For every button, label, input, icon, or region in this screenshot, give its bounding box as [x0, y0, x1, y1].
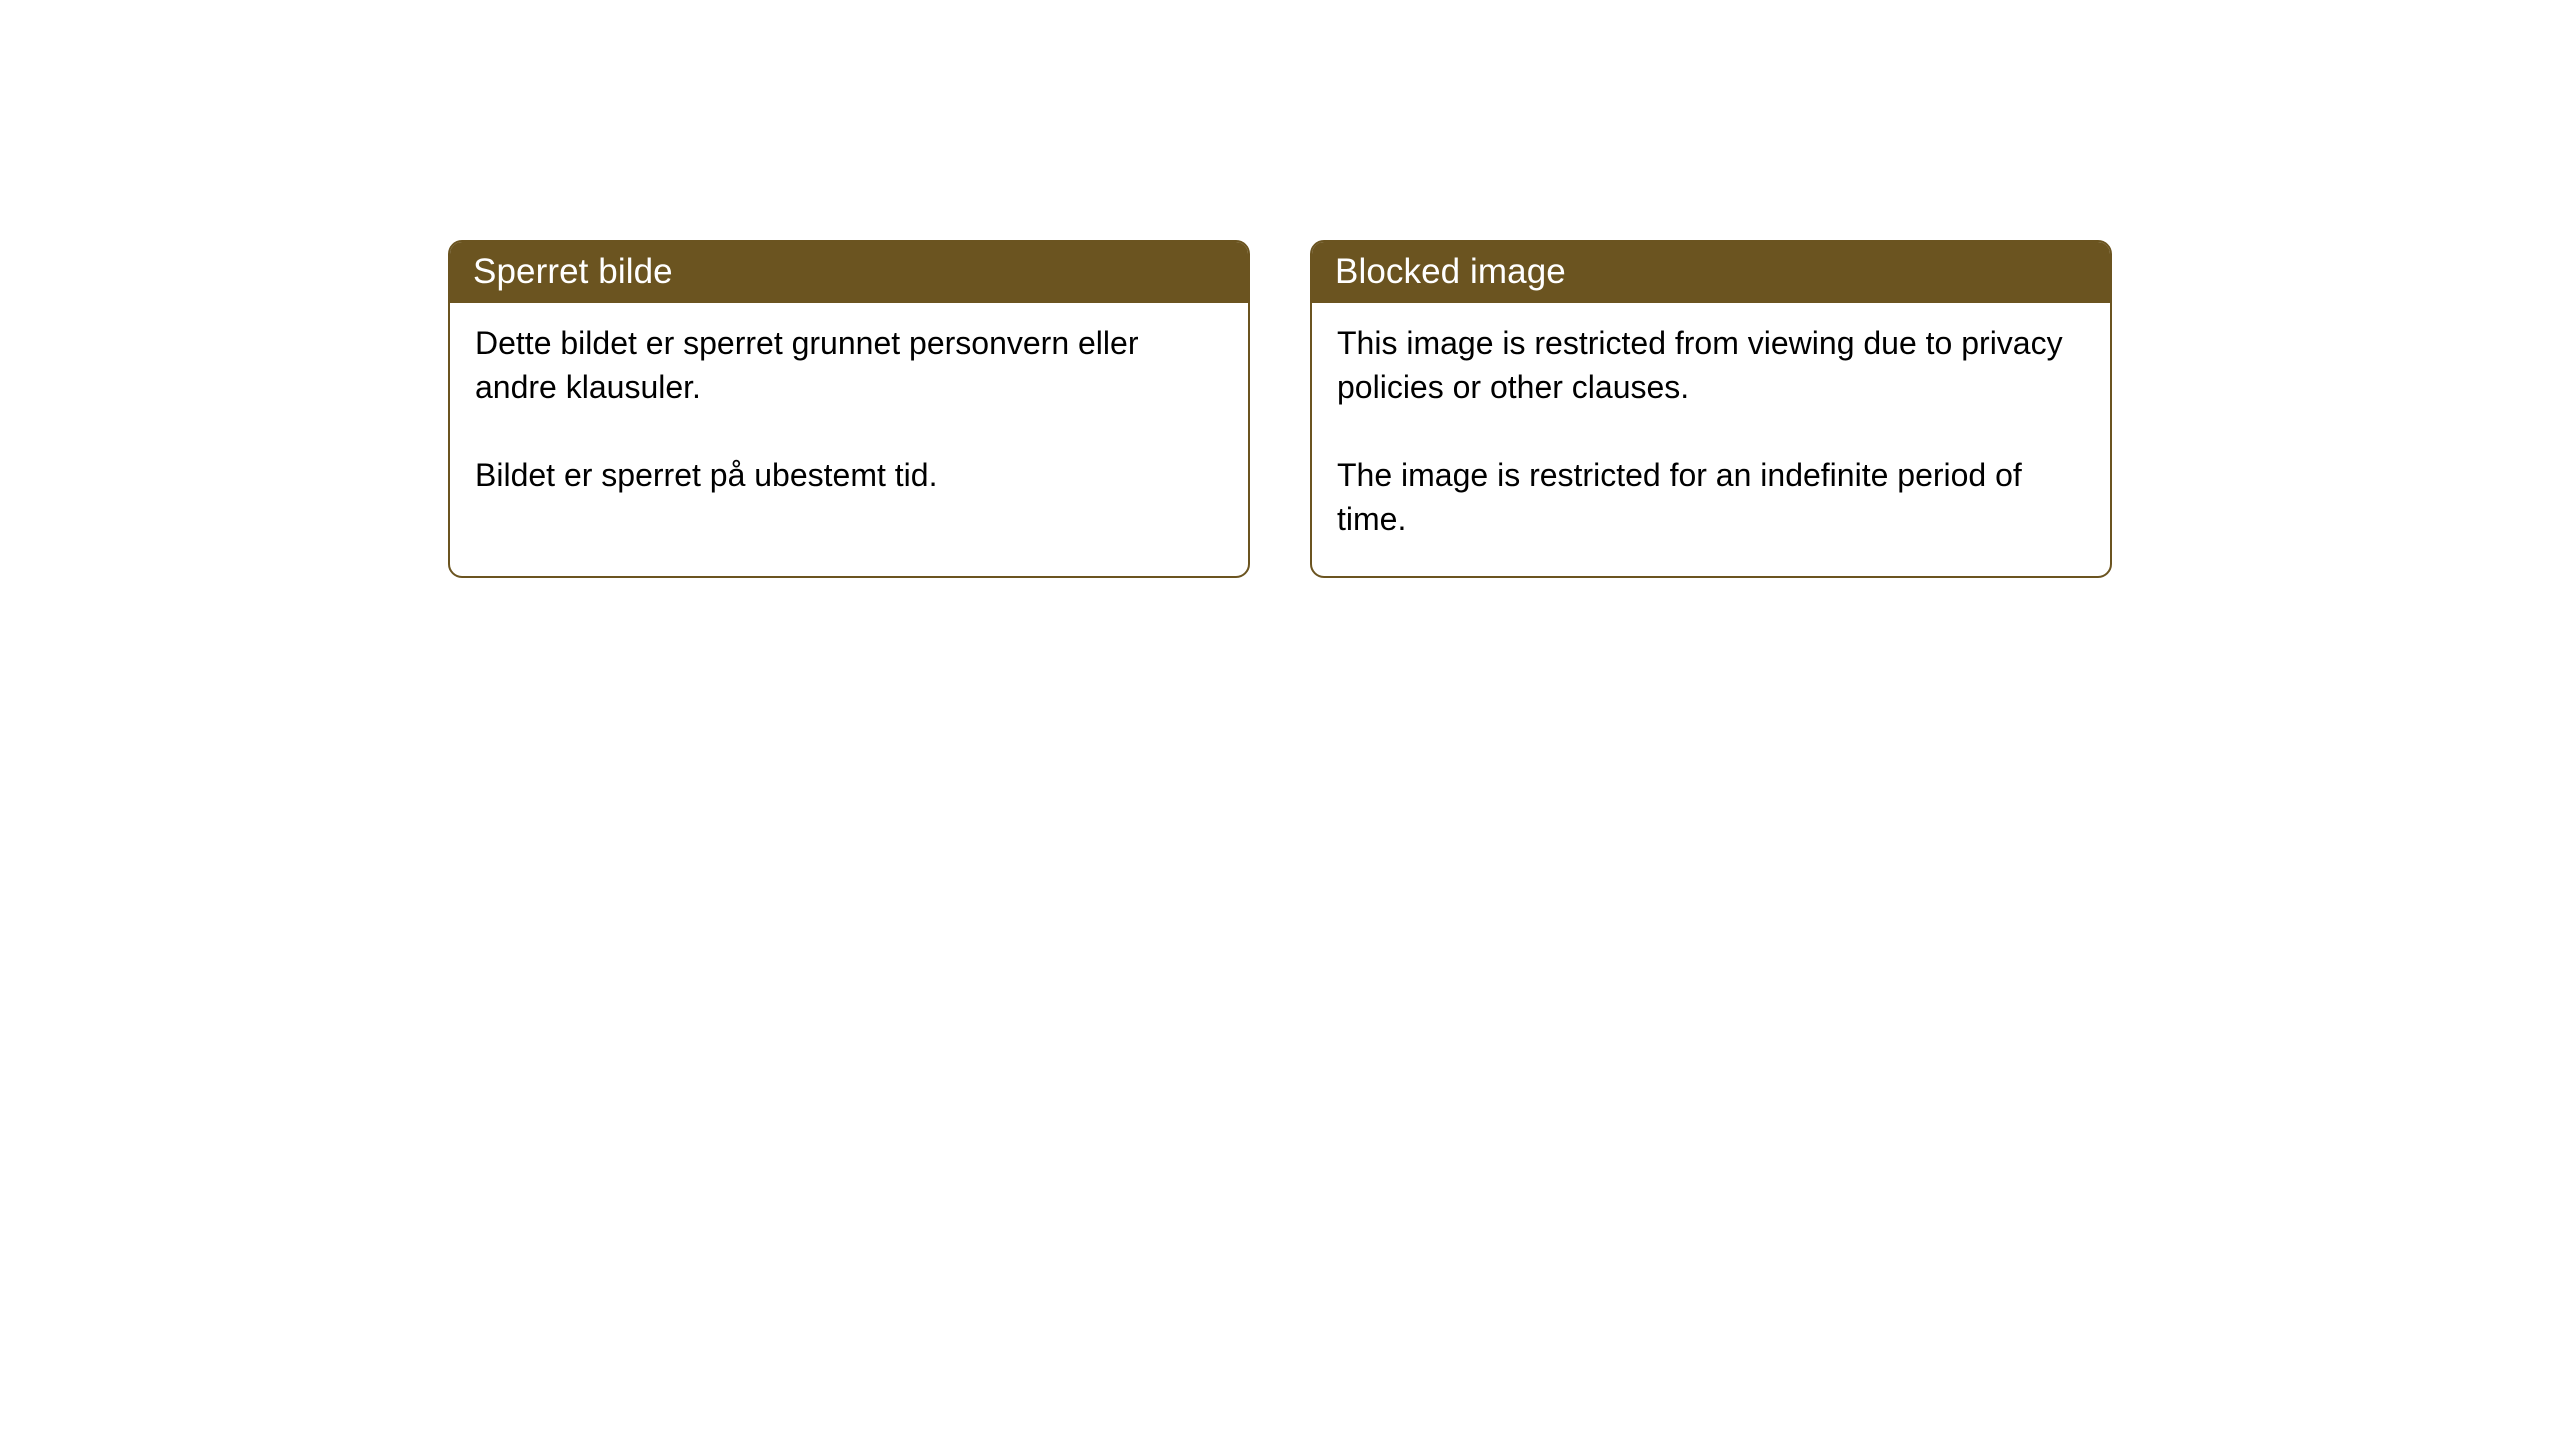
- notice-title-en: Blocked image: [1335, 254, 1566, 289]
- notice-card-body-no: Dette bildet er sperret grunnet personve…: [450, 303, 1248, 576]
- notice-card-header-no: Sperret bilde: [448, 240, 1250, 303]
- blocked-image-notice-card-en: Blocked image This image is restricted f…: [1310, 240, 2112, 578]
- blocked-image-notice-area: Sperret bilde Dette bildet er sperret gr…: [448, 240, 2112, 578]
- notice-paragraph-no-2: Bildet er sperret på ubestemt tid.: [475, 453, 1224, 497]
- notice-title-no: Sperret bilde: [473, 254, 673, 289]
- notice-paragraph-en-1: This image is restricted from viewing du…: [1337, 321, 2086, 409]
- notice-paragraph-en-2: The image is restricted for an indefinit…: [1337, 453, 2086, 541]
- notice-paragraph-no-1: Dette bildet er sperret grunnet personve…: [475, 321, 1224, 409]
- notice-card-header-en: Blocked image: [1310, 240, 2112, 303]
- notice-card-body-en: This image is restricted from viewing du…: [1312, 303, 2110, 576]
- blocked-image-notice-card-no: Sperret bilde Dette bildet er sperret gr…: [448, 240, 1250, 578]
